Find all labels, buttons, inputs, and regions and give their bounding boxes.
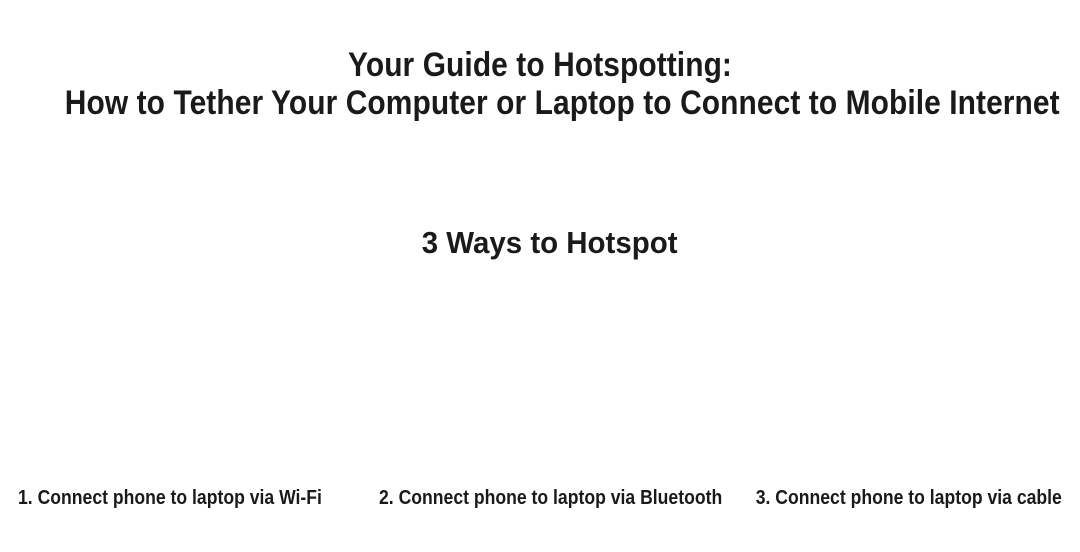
section-heading: 3 Ways to Hotspot: [0, 225, 1080, 261]
step-1-illustration: [0, 285, 360, 480]
step-3-illustration: [720, 285, 1080, 480]
page-title: Your Guide to Hotspotting: How to Tether…: [0, 46, 1080, 122]
step-2-illustration: [360, 285, 720, 480]
step-1-caption: 1. Connect phone to laptop via Wi-Fi: [18, 486, 322, 510]
infographic-page: Your Guide to Hotspotting: How to Tether…: [0, 0, 1080, 552]
page-title-line-2: How to Tether Your Computer or Laptop to…: [65, 84, 1015, 122]
step-3-caption: 3. Connect phone to laptop via cable: [756, 486, 1062, 510]
page-title-line-1: Your Guide to Hotspotting:: [65, 46, 1015, 84]
section-heading-label: 3 Ways to Hotspot: [422, 225, 678, 261]
illustration-row: [0, 285, 1080, 480]
step-2-caption: 2. Connect phone to laptop via Bluetooth: [379, 486, 722, 510]
step-caption-row: 1. Connect phone to laptop via Wi-Fi 2. …: [0, 486, 1080, 514]
